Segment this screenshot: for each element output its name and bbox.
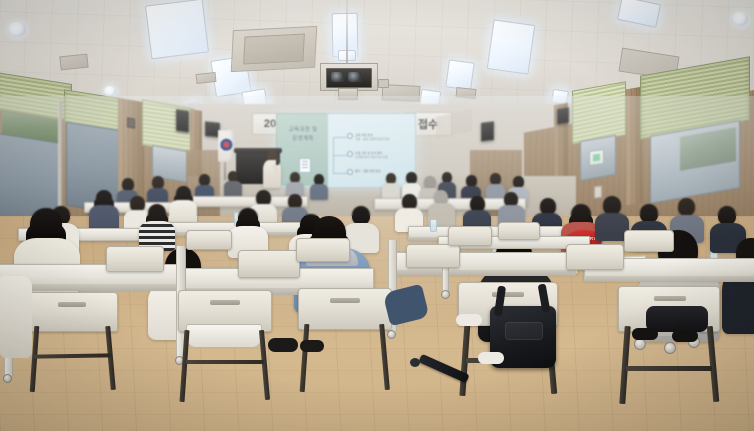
slide-tree-branch (333, 155, 347, 156)
ceiling-air-vent (231, 26, 318, 72)
slide-bullet-marker (347, 151, 353, 157)
chair-leg (626, 366, 712, 371)
ceiling-panel-light (445, 59, 475, 90)
slide-tree-branch (333, 173, 347, 174)
wall-control-panel[interactable] (589, 149, 604, 166)
shoe (672, 330, 698, 342)
window-blind (572, 81, 626, 145)
projector-lens-icon (348, 72, 361, 82)
shoe (300, 340, 324, 352)
shoe (456, 314, 482, 326)
ceiling-downlight (8, 22, 26, 37)
chair[interactable] (566, 244, 624, 270)
shoe (268, 338, 298, 352)
wall-outlet[interactable] (594, 185, 602, 198)
slide-tree-branch (333, 137, 347, 138)
chair-handle-slot (330, 298, 360, 303)
slide-document-icon (299, 158, 311, 173)
wall-switch[interactable] (127, 117, 135, 128)
banner-left-text: 20 (264, 118, 276, 130)
classroom-photo-scene: 20 접수 교육과정 및 운영계획 교육 과정 안내 기본 · 심화 과정별 운… (0, 0, 754, 431)
table-edge (392, 270, 576, 276)
attendee-head (30, 208, 62, 242)
water-bottle[interactable] (430, 219, 437, 232)
projector-cable (346, 0, 348, 64)
chair[interactable] (448, 226, 492, 246)
attendee-body (310, 184, 328, 200)
ceiling-downlight (104, 86, 116, 96)
slide-bullet-row: 교육 과정 안내 기본 · 심화 과정별 운영 일정 (347, 133, 389, 141)
slide-bullet-detail: 출석률 80% 이상 이수 인정 (355, 155, 388, 159)
slide-title-line1: 교육과정 및 (281, 126, 325, 135)
chair[interactable] (296, 238, 350, 262)
ceiling-air-vent (456, 87, 477, 99)
chair[interactable] (106, 246, 164, 272)
slide-bullet-marker (347, 169, 353, 175)
table-caster (441, 290, 450, 299)
wall-speaker (557, 107, 569, 125)
chair[interactable] (298, 288, 392, 330)
chair[interactable] (624, 230, 674, 252)
chair[interactable] (498, 222, 540, 240)
slide-title: 교육과정 및 운영계획 (281, 126, 325, 145)
umbrella-handle (410, 358, 420, 367)
attendee-head (678, 198, 695, 216)
chair-seat[interactable] (186, 324, 262, 348)
chair[interactable] (406, 244, 460, 268)
attendee-body (224, 181, 242, 197)
chair-handle-slot (58, 302, 86, 307)
ceiling-air-vent (196, 72, 217, 84)
ceiling-downlight (732, 12, 748, 26)
wall-speaker (481, 121, 494, 142)
slide-bullet-heading: 평가 · 설문 진행 안내 (355, 169, 380, 173)
ceiling-air-vent (59, 54, 88, 71)
slide-bullet-row: 수료 기준 및 출석 관리 출석률 80% 이상 이수 인정 (347, 151, 388, 159)
ceiling-panel-light (487, 19, 536, 74)
chair[interactable] (238, 250, 300, 278)
draped-jacket (0, 276, 32, 358)
chair-caster (664, 342, 676, 354)
chair-handle-slot (210, 300, 240, 305)
shoe (478, 352, 504, 364)
table-caster (387, 330, 396, 339)
wall-speaker (176, 109, 189, 133)
shoe (632, 328, 658, 340)
korean-flag (218, 130, 234, 162)
microphone-icon (276, 158, 279, 165)
chair-handle-slot (654, 296, 686, 301)
projector-sensor-icon (378, 79, 389, 88)
chair-leg (186, 360, 264, 364)
table-caster (3, 374, 12, 383)
ceiling-panel-light (145, 0, 209, 59)
slide-bullet-detail: 기본 · 심화 과정별 운영 일정 (355, 137, 389, 141)
slide-title-line2: 운영계획 (281, 135, 325, 144)
slide-bullet-marker (347, 133, 353, 139)
attendee-body (169, 200, 197, 224)
slide-bullet-row: 평가 · 설문 진행 안내 (347, 169, 380, 175)
table-edge (584, 276, 754, 282)
projector-mount (338, 88, 358, 100)
projector-lens-icon (331, 72, 344, 82)
chair[interactable] (186, 230, 232, 250)
